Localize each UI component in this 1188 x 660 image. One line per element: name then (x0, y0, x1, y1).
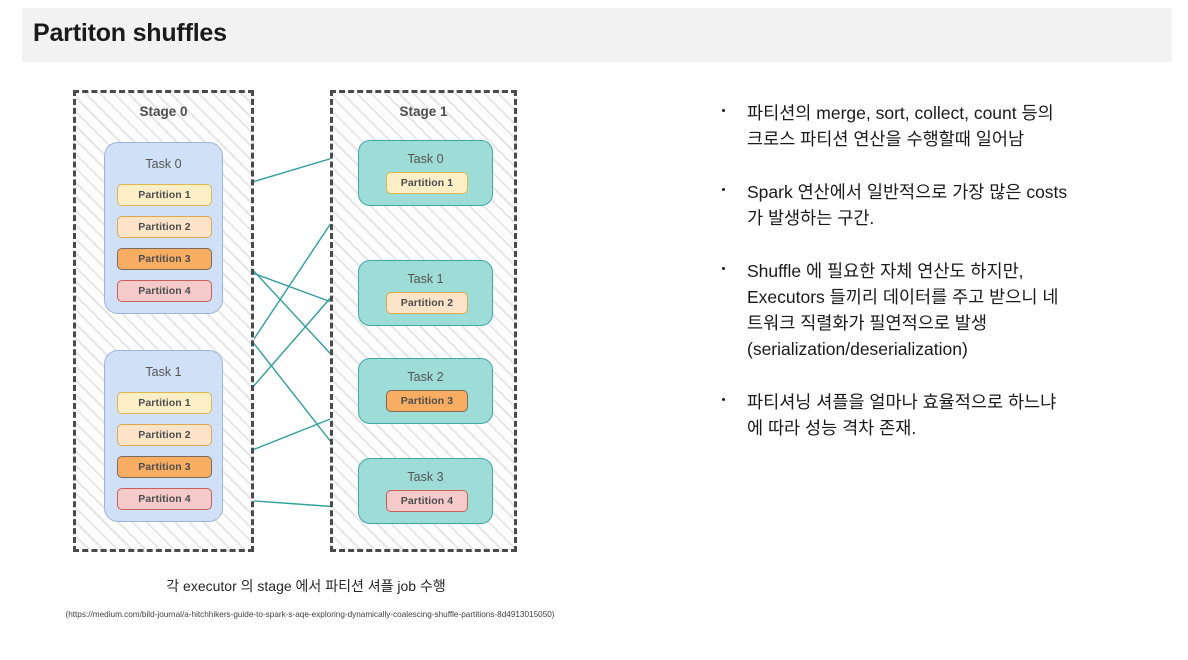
list-item: 파티션의 merge, sort, collect, count 등의 크로스 … (714, 100, 1174, 152)
partition-1[interactable]: Partition 1 (117, 392, 212, 414)
list-item: Shuffle 에 필요한 자체 연산도 하지만, Executors 들끼리 … (714, 258, 1174, 362)
partition-1[interactable]: Partition 1 (386, 172, 468, 194)
bullet-text: 파티셔닝 셔플을 얼마나 효율적으로 하느냐 에 따라 성능 격차 존재. (747, 389, 1174, 441)
source-url-citation: (https://medium.com/bild-journal/a-hitch… (0, 610, 620, 619)
partition-1[interactable]: Partition 1 (117, 184, 212, 206)
stage0-task-0[interactable]: Task 0 Partition 1 Partition 2 Partition… (104, 142, 223, 314)
bullet-text: Spark 연산에서 일반적으로 가장 많은 costs 가 발생하는 구간. (747, 179, 1174, 231)
stage0-task-1[interactable]: Task 1 Partition 1 Partition 2 Partition… (104, 350, 223, 522)
bullet-dot-icon (722, 267, 725, 270)
stage1-task-0[interactable]: Task 0 Partition 1 (358, 140, 493, 206)
task-label: Task 0 (105, 157, 222, 171)
bullet-dot-icon (722, 188, 725, 191)
task-label: Task 3 (359, 470, 492, 484)
shuffle-diagram: Stage 0 Task 0 Partition 1 Partition 2 P… (0, 0, 640, 660)
bullet-text: 파티션의 merge, sort, collect, count 등의 크로스 … (747, 100, 1174, 152)
task-label: Task 0 (359, 152, 492, 166)
slide-canvas: Partiton shuffles (0, 0, 1188, 660)
partition-3[interactable]: Partition 3 (117, 456, 212, 478)
list-item: Spark 연산에서 일반적으로 가장 많은 costs 가 발생하는 구간. (714, 179, 1174, 231)
stage1-task-2[interactable]: Task 2 Partition 3 (358, 358, 493, 424)
stage1-task-3[interactable]: Task 3 Partition 4 (358, 458, 493, 524)
partition-2[interactable]: Partition 2 (117, 424, 212, 446)
partition-4[interactable]: Partition 4 (117, 280, 212, 302)
partition-3[interactable]: Partition 3 (117, 248, 212, 270)
partition-4[interactable]: Partition 4 (117, 488, 212, 510)
bullet-list: 파티션의 merge, sort, collect, count 등의 크로스 … (714, 100, 1174, 468)
task-label: Task 1 (105, 365, 222, 379)
partition-3[interactable]: Partition 3 (386, 390, 468, 412)
list-item: 파티셔닝 셔플을 얼마나 효율적으로 하느냐 에 따라 성능 격차 존재. (714, 389, 1174, 441)
task-label: Task 2 (359, 370, 492, 384)
stage-1-label: Stage 1 (333, 104, 514, 119)
bullet-dot-icon (722, 398, 725, 401)
task-label: Task 1 (359, 272, 492, 286)
bullet-dot-icon (722, 109, 725, 112)
stage1-task-1[interactable]: Task 1 Partition 2 (358, 260, 493, 326)
partition-2[interactable]: Partition 2 (386, 292, 468, 314)
partition-4[interactable]: Partition 4 (386, 490, 468, 512)
stage-0-label: Stage 0 (76, 104, 251, 119)
bullet-text: Shuffle 에 필요한 자체 연산도 하지만, Executors 들끼리 … (747, 258, 1174, 362)
partition-2[interactable]: Partition 2 (117, 216, 212, 238)
diagram-caption: 각 executor 의 stage 에서 파티션 셔플 job 수행 (0, 576, 612, 596)
